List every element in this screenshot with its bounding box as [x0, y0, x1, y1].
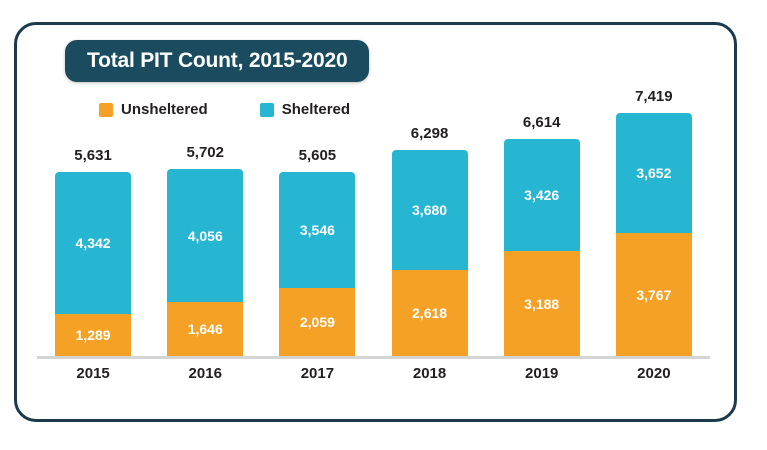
legend-item-sheltered[interactable]: Sheltered: [260, 101, 350, 118]
bar-segment-sheltered-2020[interactable]: 3,652: [616, 113, 692, 233]
x-tick-2017: 2017: [279, 365, 355, 382]
bar-series-container: 5,6314,3421,2895,7024,0561,6465,6053,546…: [37, 85, 710, 356]
bar-segment-unsheltered-2016[interactable]: 1,646: [167, 302, 243, 356]
bar-total-label-2016: 5,702: [167, 144, 243, 161]
chart-card: Total PIT Count, 2015-2020 Unsheltered S…: [14, 22, 737, 422]
page-title: Total PIT Count, 2015-2020: [87, 49, 347, 73]
bar-stack-2015: 4,3421,289: [55, 172, 131, 356]
chart-legend: Unsheltered Sheltered: [99, 101, 350, 118]
legend-label-unsheltered: Unsheltered: [121, 101, 208, 118]
bar-segment-unsheltered-2015[interactable]: 1,289: [55, 314, 131, 356]
bar-group-2019[interactable]: 6,6143,4263,188: [504, 85, 580, 356]
bar-total-label-2015: 5,631: [55, 147, 131, 164]
x-tick-2016: 2016: [167, 365, 243, 382]
x-tick-2018: 2018: [392, 365, 468, 382]
bar-segment-sheltered-2015[interactable]: 4,342: [55, 172, 131, 314]
bar-group-2020[interactable]: 7,4193,6523,767: [616, 85, 692, 356]
bar-segment-unsheltered-2018[interactable]: 2,618: [392, 270, 468, 356]
chart-plot-area: 5,6314,3421,2895,7024,0561,6465,6053,546…: [17, 25, 734, 419]
bar-segment-sheltered-2017[interactable]: 3,546: [279, 172, 355, 288]
bar-group-2016[interactable]: 5,7024,0561,646: [167, 85, 243, 356]
x-axis-tick-labels: 201520162017201820192020: [37, 365, 710, 382]
legend-label-sheltered: Sheltered: [282, 101, 350, 118]
bar-stack-2017: 3,5462,059: [279, 172, 355, 356]
bar-segment-unsheltered-2020[interactable]: 3,767: [616, 233, 692, 356]
axis-baseline: [37, 356, 710, 359]
bar-group-2017[interactable]: 5,6053,5462,059: [279, 85, 355, 356]
bar-stack-2016: 4,0561,646: [167, 169, 243, 356]
x-tick-2015: 2015: [55, 365, 131, 382]
legend-swatch-sheltered: [260, 103, 274, 117]
bar-total-label-2018: 6,298: [392, 125, 468, 142]
bar-stack-2020: 3,6523,767: [616, 113, 692, 356]
bar-segment-sheltered-2019[interactable]: 3,426: [504, 139, 580, 251]
legend-item-unsheltered[interactable]: Unsheltered: [99, 101, 208, 118]
x-tick-2020: 2020: [616, 365, 692, 382]
bar-group-2018[interactable]: 6,2983,6802,618: [392, 85, 468, 356]
legend-swatch-unsheltered: [99, 103, 113, 117]
bar-stack-2019: 3,4263,188: [504, 139, 580, 356]
bar-group-2015[interactable]: 5,6314,3421,289: [55, 85, 131, 356]
bar-segment-sheltered-2016[interactable]: 4,056: [167, 169, 243, 302]
chart-title-pill: Total PIT Count, 2015-2020: [65, 40, 369, 82]
bar-segment-unsheltered-2019[interactable]: 3,188: [504, 251, 580, 356]
bar-stack-2018: 3,6802,618: [392, 150, 468, 356]
bar-total-label-2020: 7,419: [616, 88, 692, 105]
x-tick-2019: 2019: [504, 365, 580, 382]
bar-total-label-2019: 6,614: [504, 114, 580, 131]
bar-segment-sheltered-2018[interactable]: 3,680: [392, 150, 468, 270]
bar-segment-unsheltered-2017[interactable]: 2,059: [279, 288, 355, 356]
bar-total-label-2017: 5,605: [279, 147, 355, 164]
